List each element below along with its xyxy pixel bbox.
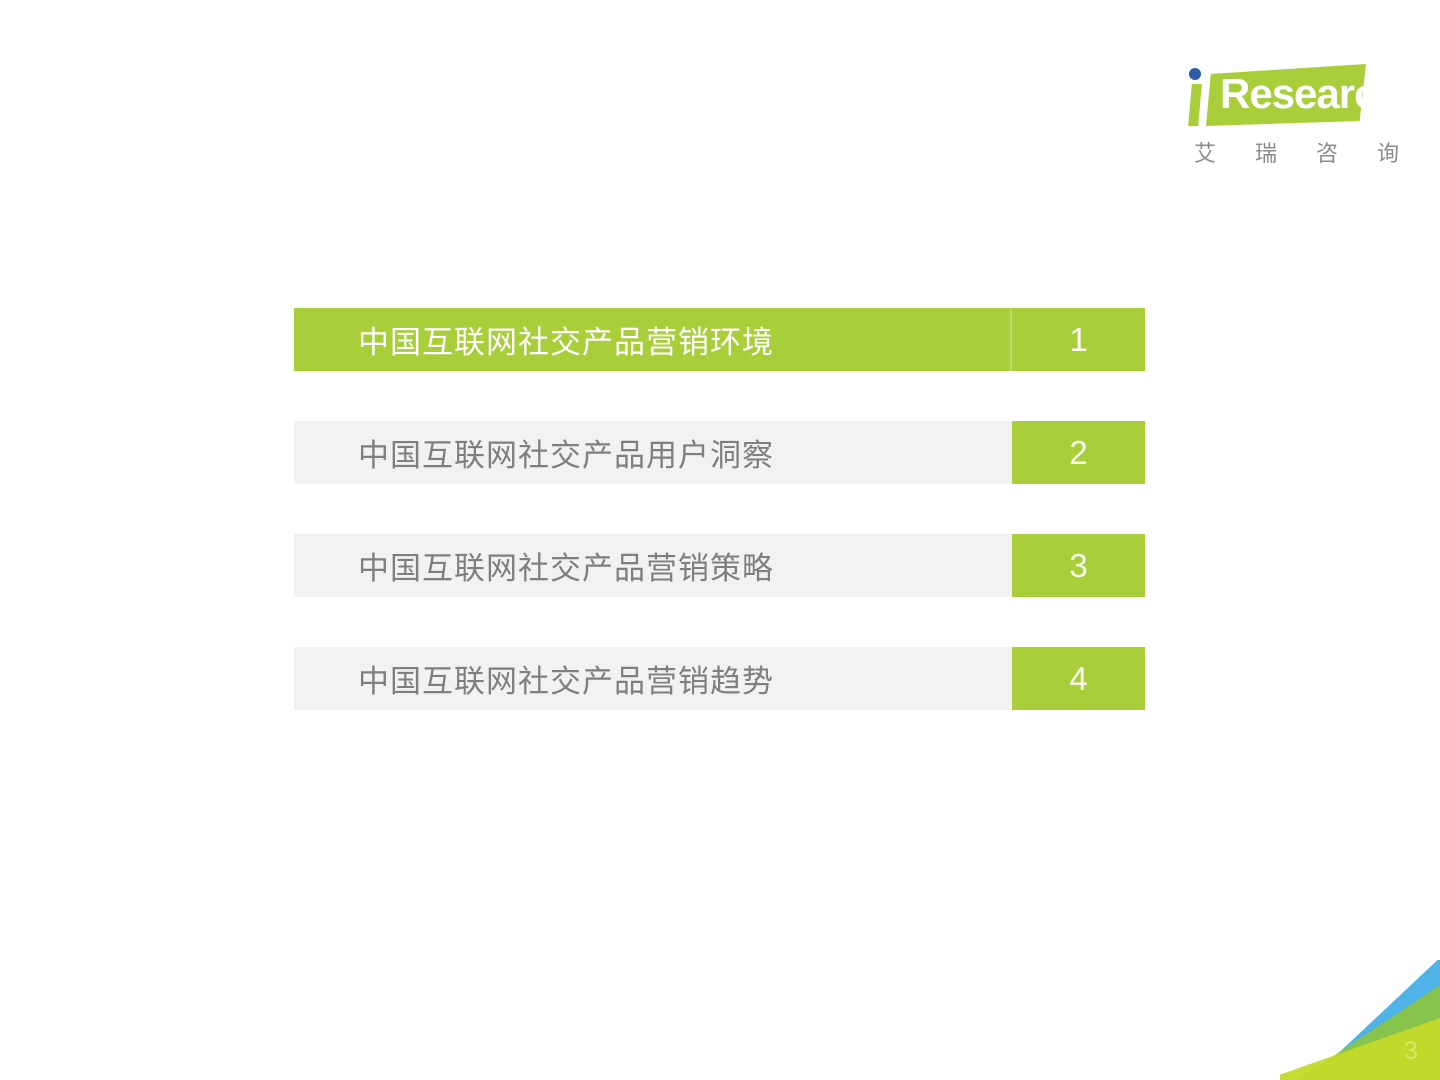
logo-i-stem-icon bbox=[1188, 84, 1202, 126]
agenda-row[interactable]: 中国互联网社交产品用户洞察 2 bbox=[294, 421, 1145, 484]
iresearch-logo: Research 艾 瑞 咨 询 bbox=[1178, 58, 1388, 173]
agenda-row-number: 2 bbox=[1012, 421, 1145, 484]
logo-i-dot-icon bbox=[1189, 68, 1201, 80]
agenda-list: 中国互联网社交产品营销环境 1 中国互联网社交产品用户洞察 2 中国互联网社交产… bbox=[294, 308, 1145, 710]
logo-mark: Research bbox=[1178, 58, 1378, 130]
logo-wordmark: Research bbox=[1220, 67, 1370, 121]
agenda-row-number: 1 bbox=[1010, 308, 1145, 371]
logo-chinese-name: 艾 瑞 咨 询 bbox=[1194, 136, 1415, 168]
agenda-row-title: 中国互联网社交产品营销环境 bbox=[294, 308, 1010, 371]
agenda-row-title: 中国互联网社交产品用户洞察 bbox=[294, 421, 1012, 484]
agenda-row[interactable]: 中国互联网社交产品营销趋势 4 bbox=[294, 647, 1145, 710]
agenda-row[interactable]: 中国互联网社交产品营销策略 3 bbox=[294, 534, 1145, 597]
agenda-row-number: 4 bbox=[1012, 647, 1145, 710]
corner-blue-triangle bbox=[1296, 960, 1440, 1062]
page-number: 3 bbox=[1404, 1037, 1418, 1066]
agenda-row-title: 中国互联网社交产品营销策略 bbox=[294, 534, 1012, 597]
agenda-row-title: 中国互联网社交产品营销趋势 bbox=[294, 647, 1012, 710]
agenda-row-number: 3 bbox=[1012, 534, 1145, 597]
slide-canvas: Research 艾 瑞 咨 询 中国互联网社交产品营销环境 1 中国互联网社交… bbox=[0, 0, 1440, 1080]
agenda-row[interactable]: 中国互联网社交产品营销环境 1 bbox=[294, 308, 1145, 371]
